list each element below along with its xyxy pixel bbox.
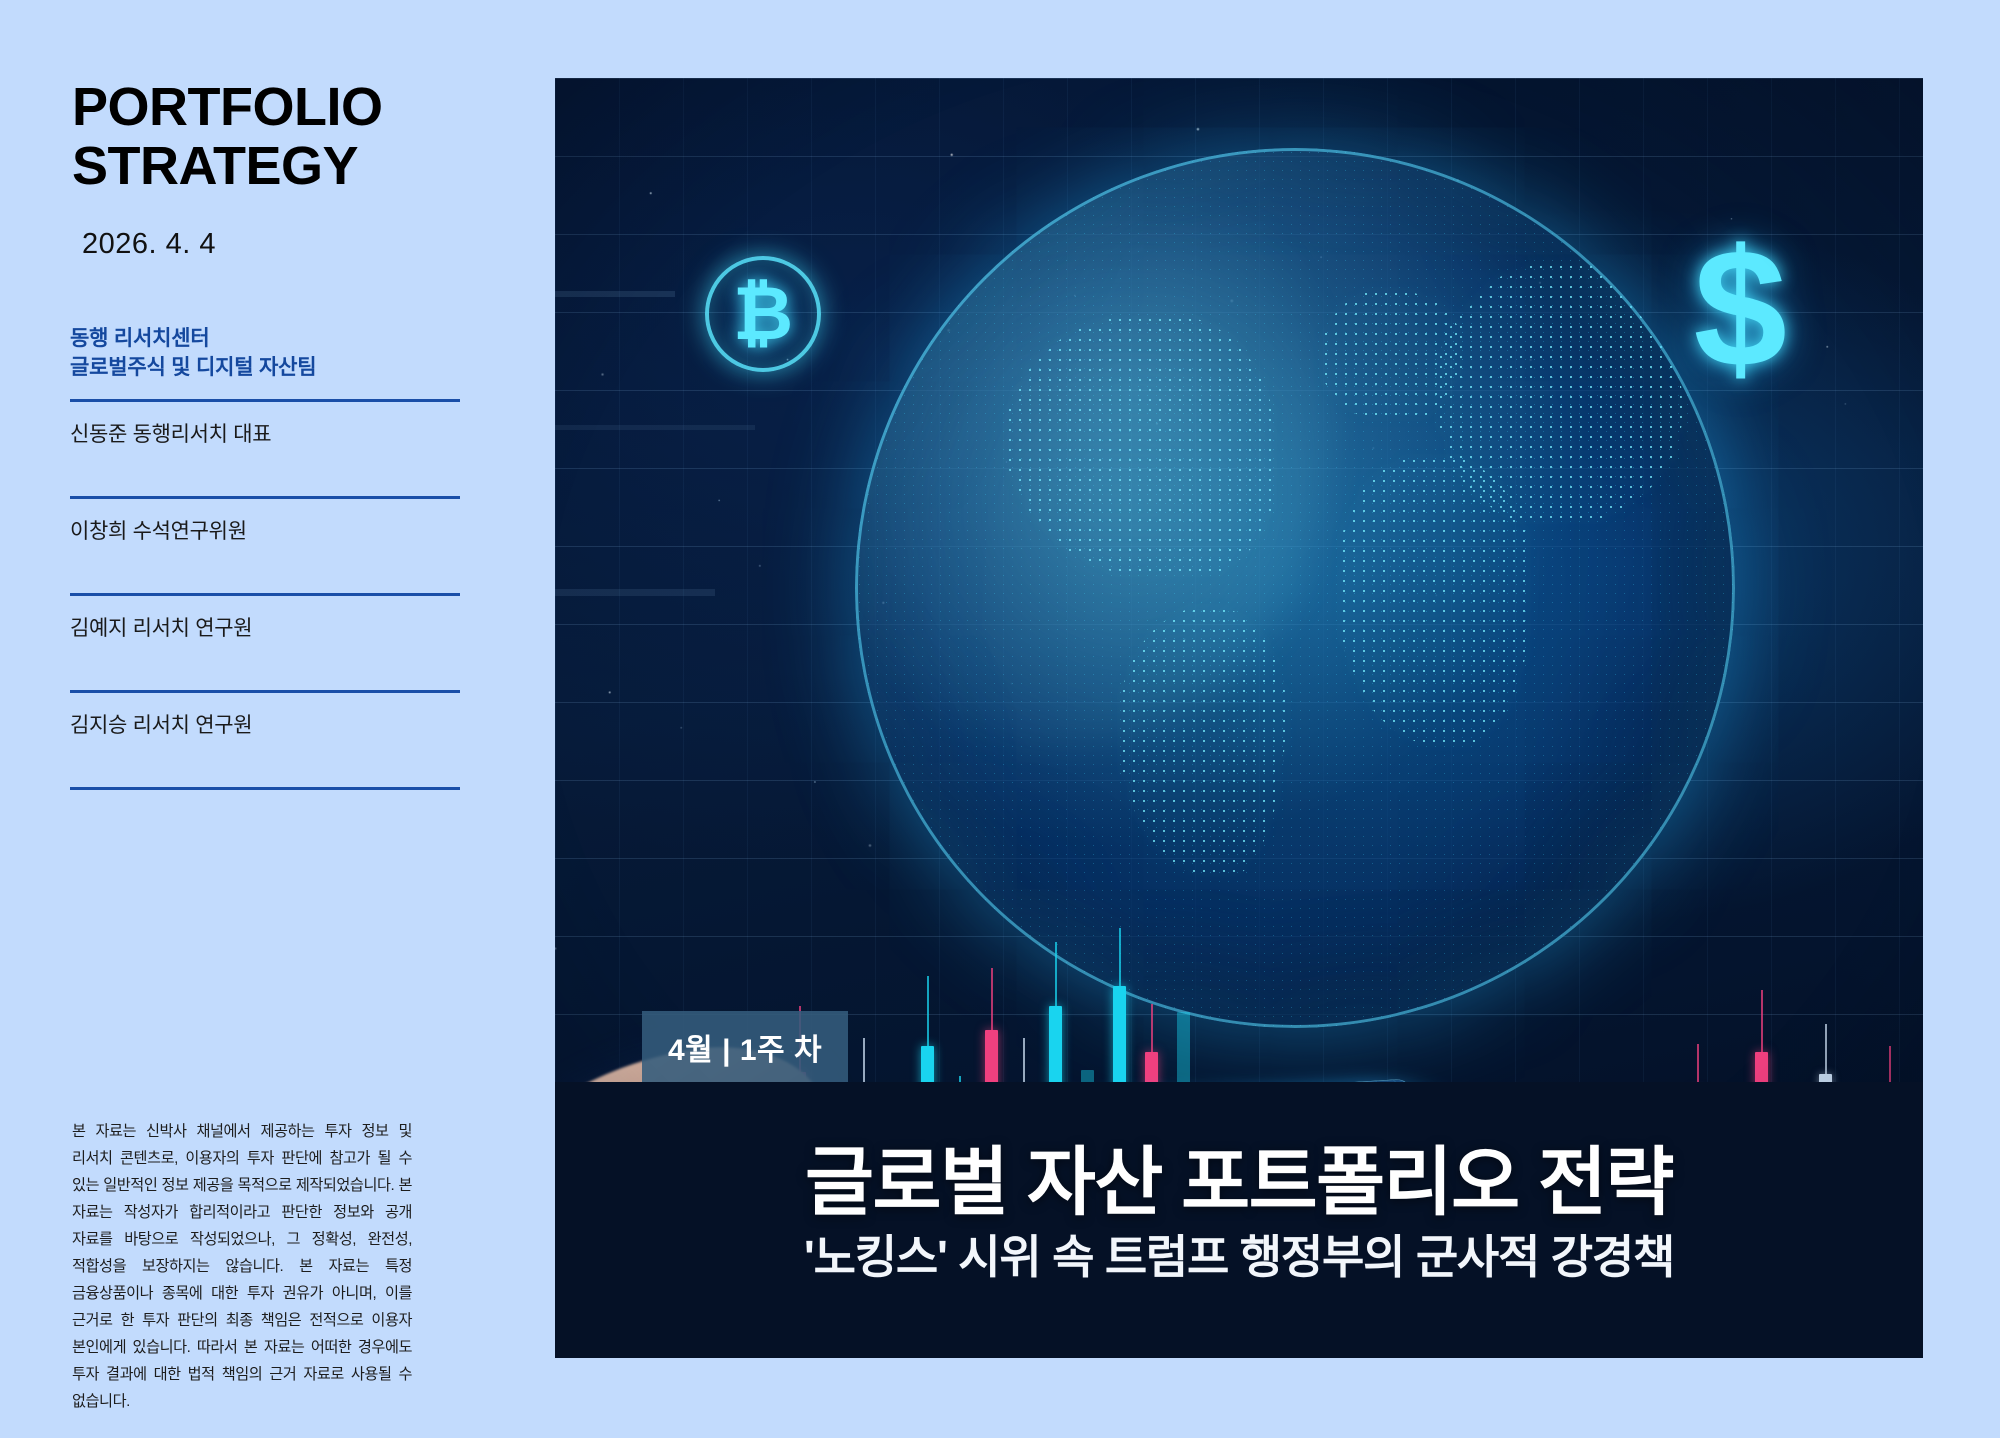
disclaimer-text: 본 자료는 신박사 채널에서 제공하는 투자 정보 및 리서치 콘텐츠로, 이용… <box>72 1118 412 1416</box>
poster-page: PORTFOLIO STRATEGY 2026. 4. 4 동행 리서치센터 글… <box>0 0 2000 1438</box>
org-line-1: 동행 리서치센터 <box>70 325 460 354</box>
member-name: 김예지 리서치 연구원 <box>70 596 252 642</box>
member-name: 이창희 수석연구위원 <box>70 499 247 545</box>
report-title: 글로벌 자산 포트폴리오 전략 <box>805 1141 1673 1224</box>
team-block: 동행 리서치센터 글로벌주식 및 디지털 자산팀 신동준 동행리서치 대표 이창… <box>70 325 460 790</box>
list-item: 김예지 리서치 연구원 <box>70 596 460 674</box>
sidebar: PORTFOLIO STRATEGY 2026. 4. 4 동행 리서치센터 글… <box>0 0 555 1438</box>
member-name: 신동준 동행리서치 대표 <box>70 402 271 448</box>
research-center-name: 동행 리서치센터 글로벌주식 및 디지털 자산팀 <box>70 325 460 383</box>
hero-image: ₿ $ <box>555 78 1923 1358</box>
list-item: 신동준 동행리서치 대표 <box>70 402 460 480</box>
title-band: 글로벌 자산 포트폴리오 전략 '노킹스' 시위 속 트럼프 행정부의 군사적 … <box>555 1082 1923 1358</box>
list-item: 이창희 수석연구위원 <box>70 499 460 577</box>
list-item: 김지승 리서치 연구원 <box>70 693 460 771</box>
dollar-icon: $ <box>1694 224 1787 392</box>
org-line-2: 글로벌주식 및 디지털 자산팀 <box>70 354 460 383</box>
member-name: 김지승 리서치 연구원 <box>70 693 252 739</box>
bitcoin-icon: ₿ <box>705 256 821 372</box>
publication-date: 2026. 4. 4 <box>82 228 216 261</box>
divider <box>70 787 460 790</box>
status-badge: 4월 | 1주 차 <box>642 1011 848 1085</box>
page-title: PORTFOLIO STRATEGY <box>72 78 512 197</box>
report-subtitle: '노킹스' 시위 속 트럼프 행정부의 군사적 강경책 <box>804 1230 1674 1285</box>
